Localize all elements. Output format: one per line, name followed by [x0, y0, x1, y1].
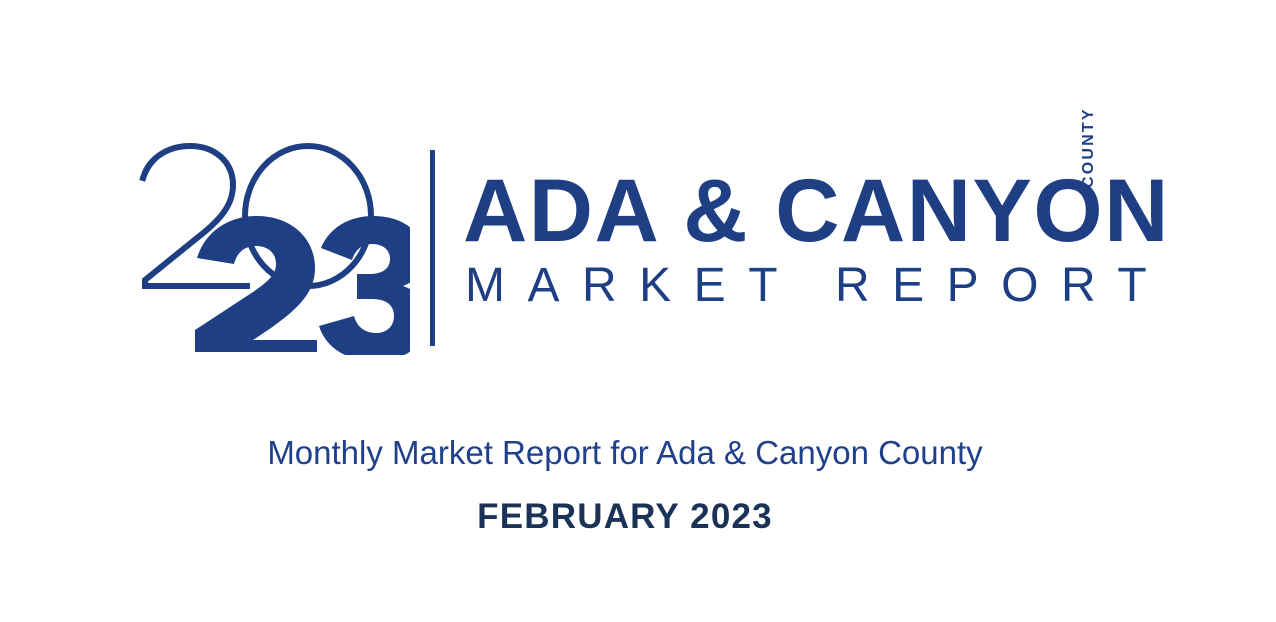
- logo-title-main: ADA & CANYON: [463, 166, 1170, 255]
- logo-wordmark: ADA & CANYON COUNTY MARKET REPORT: [463, 140, 1123, 355]
- logo-title-superscript-county: COUNTY: [1081, 107, 1097, 188]
- cover-caption-block: Monthly Market Report for Ada & Canyon C…: [0, 432, 1250, 538]
- report-subtitle: Monthly Market Report for Ada & Canyon C…: [0, 432, 1250, 474]
- year-2023-icon: [135, 140, 410, 355]
- logo-divider-rule: [430, 150, 435, 346]
- logo-year-graphic: [135, 140, 410, 355]
- report-cover-page: ADA & CANYON COUNTY MARKET REPORT Monthl…: [0, 0, 1276, 622]
- logo-title-sub: MARKET REPORT: [465, 262, 1169, 310]
- brand-logo-lockup: ADA & CANYON COUNTY MARKET REPORT: [135, 140, 1135, 355]
- report-date: FEBRUARY 2023: [0, 496, 1250, 538]
